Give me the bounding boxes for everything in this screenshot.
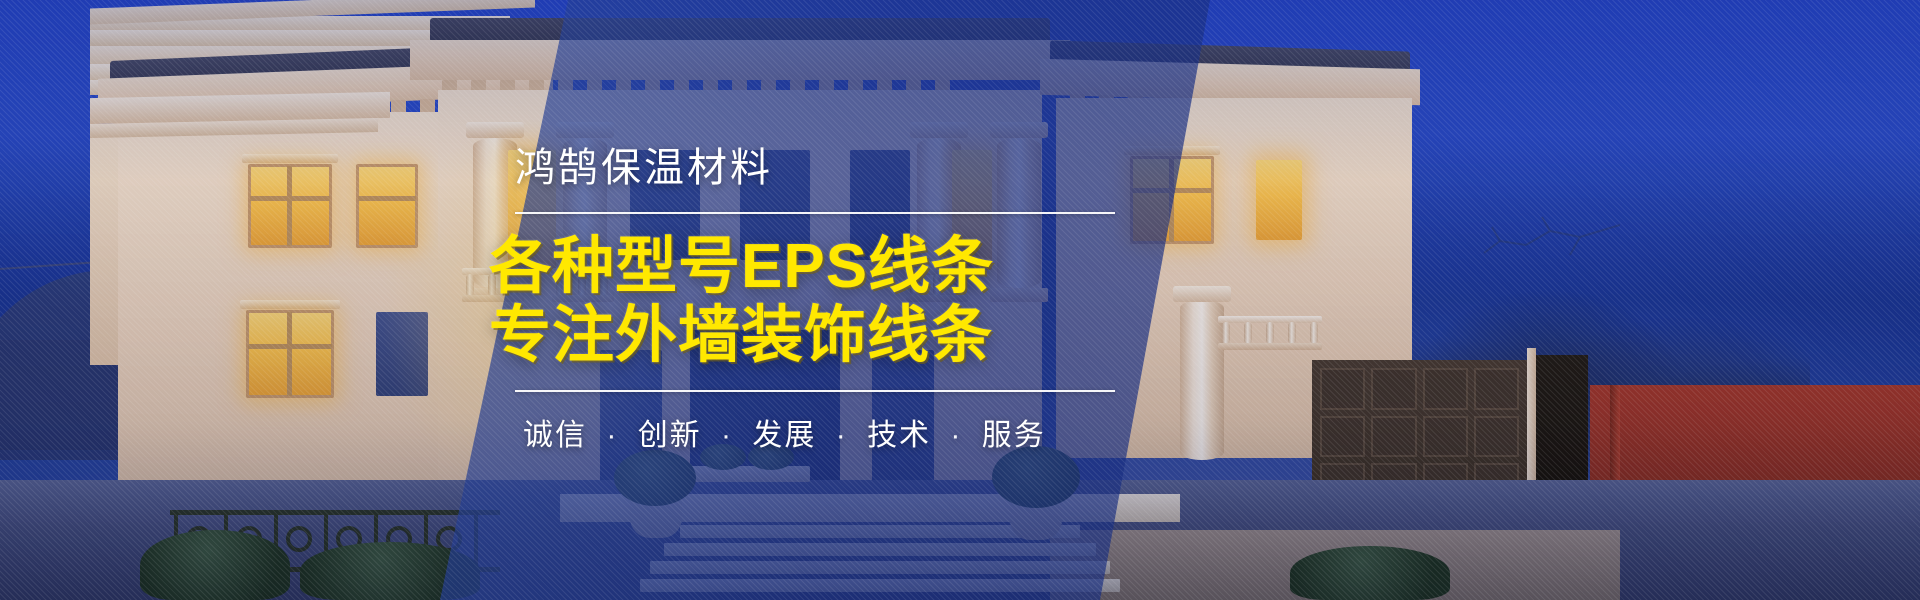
tagline-separator: · bbox=[941, 419, 971, 452]
hero-banner: 鸿鹄保温材料 各种型号EPS线条 专注外墙装饰线条 诚信 · 创新 · 发展 ·… bbox=[0, 0, 1920, 600]
tagline: 诚信 · 创新 · 发展 · 技术 · 服务 bbox=[475, 410, 1315, 454]
tagline-item-0: 诚信 bbox=[523, 419, 587, 452]
tagline-item-1: 创新 bbox=[638, 419, 702, 452]
banner-content: 鸿鹄保温材料 各种型号EPS线条 专注外墙装饰线条 诚信 · 创新 · 发展 ·… bbox=[0, 0, 1920, 600]
tagline-separator: · bbox=[827, 419, 857, 452]
divider-top bbox=[515, 212, 1115, 214]
tagline-item-2: 发展 bbox=[752, 419, 816, 452]
tagline-separator: · bbox=[597, 419, 627, 452]
tagline-item-3: 技术 bbox=[867, 419, 931, 452]
headline-line-2: 专注外墙装饰线条 bbox=[489, 301, 1315, 370]
company-name: 鸿鹄保温材料 bbox=[475, 146, 1315, 190]
divider-bottom bbox=[515, 390, 1115, 392]
headline-line-1: 各种型号EPS线条 bbox=[489, 232, 994, 301]
tagline-separator: · bbox=[712, 419, 742, 452]
tagline-item-4: 服务 bbox=[982, 419, 1046, 452]
headline: 各种型号EPS线条 专注外墙装饰线条 bbox=[475, 232, 1315, 371]
